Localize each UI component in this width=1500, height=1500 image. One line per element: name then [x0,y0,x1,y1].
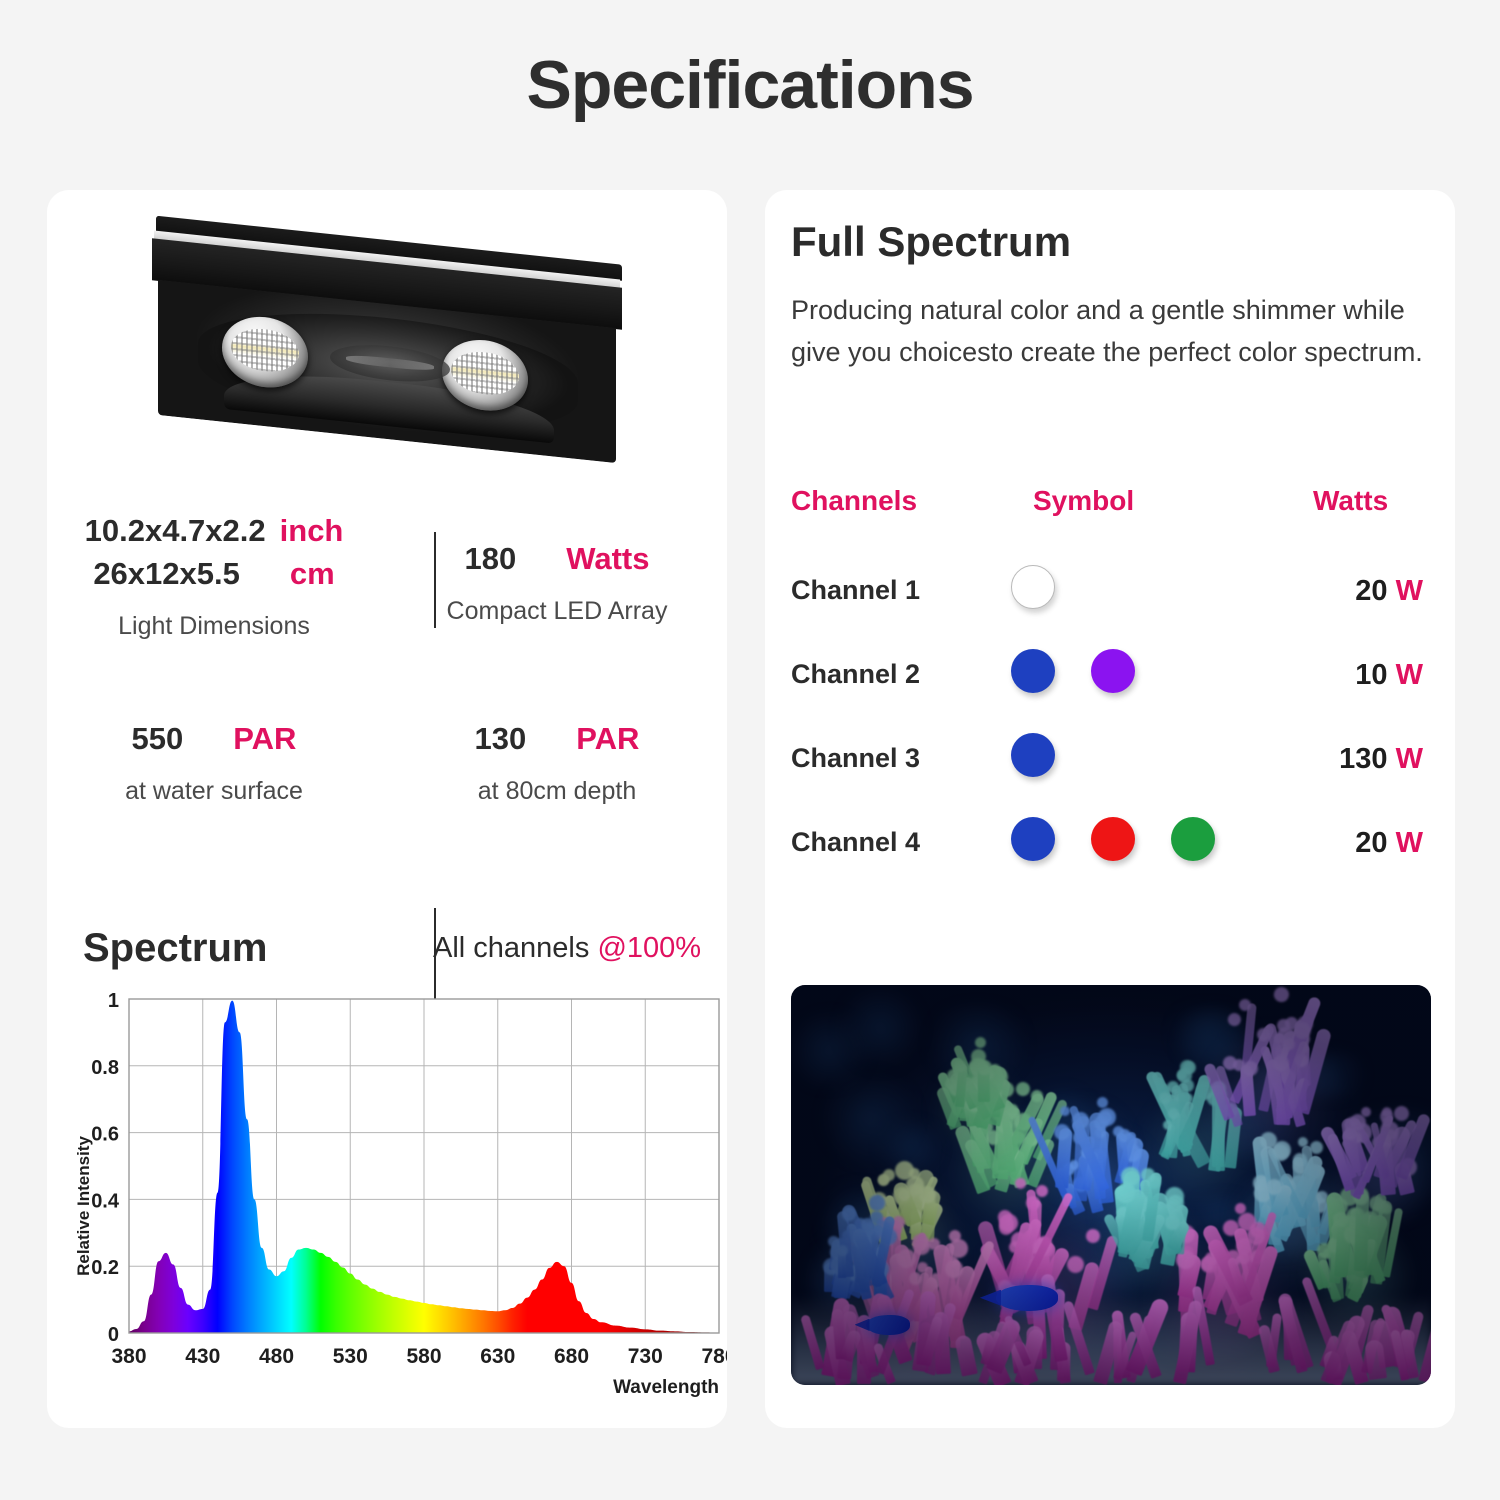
svg-text:430: 430 [185,1345,220,1368]
spec-value: 550 [132,721,184,756]
spectrum-header: Spectrum All channels @100% [83,926,727,974]
watts-unit: W [1396,659,1423,691]
channels-table: Channels Symbol Watts Channel 120 WChann… [783,485,1438,887]
spec-caption: Compact LED Array [392,597,722,626]
channels-table-header: Channels Symbol Watts [783,485,1438,551]
watts-value: 20 [1355,827,1395,859]
spec-caption: at 80cm depth [392,777,722,806]
svg-text:480: 480 [259,1345,294,1368]
spec-value: 10.2x4.7x2.2 [85,513,266,548]
table-row: Channel 3130 W [783,719,1438,803]
spec-power-value: 180Watts [392,538,722,581]
led-fixture-illustration [152,215,622,479]
reef-blue-cast [791,985,1431,1385]
full-spectrum-heading: Full Spectrum [791,218,1071,266]
watts-value: 10 [1355,659,1395,691]
spectrum-subtitle: All channels @100% [433,932,701,965]
channel-watts: 20 W [1283,827,1423,860]
spec-unit: Watts [566,541,649,576]
column-header-channels: Channels [791,485,917,517]
svg-text:530: 530 [333,1345,368,1368]
channels-rows: Channel 120 WChannel 210 WChannel 3130 W… [783,551,1438,887]
channel-symbols [1011,817,1215,861]
right-spec-card: Full Spectrum Producing natural color an… [765,190,1455,1428]
watts-unit: W [1396,743,1423,775]
spec-par-surface-value: 550PAR [49,718,379,761]
left-spec-card: 10.2x4.7x2.2inch 26x12x5.5cm Light Dimen… [47,190,727,1428]
svg-text:580: 580 [406,1345,441,1368]
table-row: Channel 420 W [783,803,1438,887]
svg-text:0.6: 0.6 [91,1124,119,1146]
svg-text:730: 730 [628,1345,663,1368]
spectrum-subtitle-accent: @100% [597,932,701,964]
svg-text:1: 1 [108,990,119,1012]
spec-value: 26x12x5.5 [93,556,240,591]
spec-par-depth-value: 130PAR [392,718,722,761]
specifications-infographic: Specifications 10.2x4.7x [0,0,1500,1500]
svg-text:780: 780 [701,1345,727,1368]
full-spectrum-description: Producing natural color and a gentle shi… [791,290,1431,374]
spec-value: 130 [475,721,527,756]
led-color-dot [1011,817,1055,861]
svg-text:380: 380 [111,1345,146,1368]
led-color-dot [1171,817,1215,861]
watts-unit: W [1396,827,1423,859]
column-header-watts: Watts [1313,485,1388,517]
led-color-dot [1011,565,1055,609]
spec-dimensions-cm: 26x12x5.5cm [49,553,379,596]
led-color-dot [1091,817,1135,861]
channel-watts: 20 W [1283,575,1423,608]
svg-text:680: 680 [554,1345,589,1368]
watts-value: 20 [1355,575,1395,607]
spec-dimensions: 10.2x4.7x2.2inch 26x12x5.5cm Light Dimen… [49,510,379,641]
spectrum-subtitle-prefix: All channels [433,932,597,964]
svg-text:0: 0 [108,1324,119,1346]
watts-unit: W [1396,575,1423,607]
table-row: Channel 210 W [783,635,1438,719]
channel-watts: 130 W [1283,743,1423,776]
spec-unit: PAR [576,721,639,756]
spectrum-chart: 00.20.40.60.8138043048053058063068073078… [67,985,727,1405]
led-color-dot [1091,649,1135,693]
spec-unit: inch [280,513,344,548]
channel-symbols [1011,649,1135,693]
spectrum-chart-svg: 00.20.40.60.8138043048053058063068073078… [67,985,727,1405]
channel-name: Channel 1 [791,575,920,606]
led-color-dot [1011,649,1055,693]
svg-text:0.2: 0.2 [91,1257,119,1279]
svg-text:Relative Intensity: Relative Intensity [74,1136,93,1276]
table-row: Channel 120 W [783,551,1438,635]
spec-dimensions-inch: 10.2x4.7x2.2inch [49,510,379,553]
svg-text:Wavelength: Wavelength [613,1377,719,1398]
product-image [122,220,662,480]
svg-text:0.4: 0.4 [91,1190,120,1212]
spec-grid: 10.2x4.7x2.2inch 26x12x5.5cm Light Dimen… [47,510,727,840]
svg-text:630: 630 [480,1345,515,1368]
channel-watts: 10 W [1283,659,1423,692]
channel-name: Channel 3 [791,743,920,774]
spec-par-depth: 130PAR at 80cm depth [392,718,722,806]
coral-reef-photo [791,985,1431,1385]
page-title: Specifications [0,46,1500,124]
spec-caption: Light Dimensions [49,612,379,641]
spectrum-title: Spectrum [83,926,268,971]
spec-par-surface: 550PAR at water surface [49,718,379,806]
channel-name: Channel 4 [791,827,920,858]
spec-unit: cm [290,556,335,591]
watts-value: 130 [1339,743,1395,775]
spec-caption: at water surface [49,777,379,806]
column-header-symbol: Symbol [1033,485,1134,517]
svg-text:0.8: 0.8 [91,1057,119,1079]
channel-symbols [1011,565,1055,609]
spec-power: 180Watts Compact LED Array [392,538,722,626]
spec-value: 180 [465,541,517,576]
spec-unit: PAR [233,721,296,756]
channel-symbols [1011,733,1055,777]
led-color-dot [1011,733,1055,777]
channel-name: Channel 2 [791,659,920,690]
